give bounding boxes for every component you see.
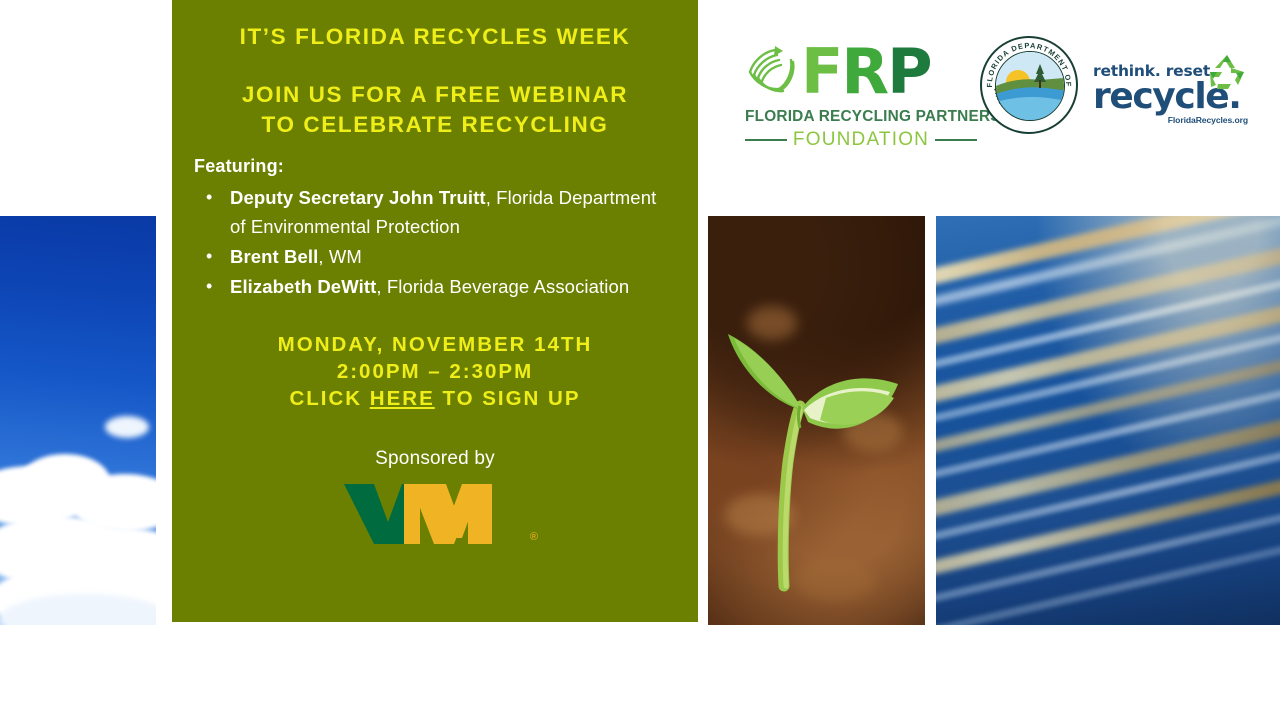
rethink-reset-recycle-logo: rethink. reset. recycle. FloridaRecycles… bbox=[1093, 62, 1248, 134]
water-highlight bbox=[936, 216, 1280, 625]
seedling-photo bbox=[708, 216, 925, 625]
seal-scene bbox=[995, 51, 1065, 121]
signup-call-to-action[interactable]: CLICK HERE TO SIGN UP bbox=[172, 385, 698, 412]
speaker-affiliation: , WM bbox=[318, 246, 362, 267]
list-item: • Elizabeth DeWitt, Florida Beverage Ass… bbox=[198, 272, 672, 301]
headline-secondary-line2: TO CELEBRATE RECYCLING bbox=[172, 110, 698, 140]
sky-photo bbox=[0, 216, 156, 625]
event-date: MONDAY, NOVEMBER 14TH bbox=[172, 331, 698, 358]
featuring-label: Featuring: bbox=[194, 156, 698, 177]
event-details: MONDAY, NOVEMBER 14TH 2:00PM – 2:30PM CL… bbox=[172, 331, 698, 412]
signup-link[interactable]: HERE bbox=[370, 387, 435, 410]
event-time: 2:00PM – 2:30PM bbox=[172, 358, 698, 385]
frp-letters: FRP bbox=[801, 41, 931, 103]
headline-primary: IT’S FLORIDA RECYCLES WEEK bbox=[172, 0, 698, 50]
water-photo bbox=[936, 216, 1280, 625]
divider-line bbox=[745, 139, 787, 141]
recycling-arrows-icon bbox=[1204, 52, 1250, 92]
frp-foundation-row: FOUNDATION bbox=[745, 129, 977, 151]
speaker-list: • Deputy Secretary John Truitt, Florida … bbox=[172, 183, 698, 301]
frp-foundation-label: FOUNDATION bbox=[793, 129, 929, 151]
signup-suffix: TO SIGN UP bbox=[435, 387, 581, 410]
bullet-icon: • bbox=[206, 272, 212, 301]
seal-landscape-icon bbox=[996, 52, 1064, 120]
frp-letter-r: R bbox=[841, 35, 887, 108]
seedling-icon bbox=[708, 216, 925, 625]
signup-prefix: CLICK bbox=[289, 387, 369, 410]
speaker-affiliation: , Florida Beverage Association bbox=[376, 276, 629, 297]
sponsored-by-label: Sponsored by bbox=[172, 448, 698, 470]
flyer-canvas: IT’S FLORIDA RECYCLES WEEK JOIN US FOR A… bbox=[0, 0, 1280, 720]
speaker-name: Deputy Secretary John Truitt bbox=[230, 187, 486, 208]
cloud-shape bbox=[105, 416, 149, 438]
frp-letter-p: P bbox=[887, 35, 930, 108]
list-item: • Deputy Secretary John Truitt, Florida … bbox=[198, 183, 672, 241]
wm-logo-icon bbox=[342, 482, 528, 546]
headline-secondary-line1: JOIN US FOR A FREE WEBINAR bbox=[172, 80, 698, 110]
headline-secondary: JOIN US FOR A FREE WEBINAR TO CELEBRATE … bbox=[172, 50, 698, 140]
recycling-swoosh-icon bbox=[745, 42, 801, 102]
wm-logo: ® bbox=[342, 482, 528, 546]
frp-wordmark-row: FRP bbox=[745, 36, 977, 108]
speaker-name: Elizabeth DeWitt bbox=[230, 276, 376, 297]
bullet-icon: • bbox=[206, 242, 212, 271]
frp-subtitle: FLORIDA RECYCLING PARTNERSHIP bbox=[745, 108, 977, 126]
bullet-icon: • bbox=[206, 183, 212, 212]
florida-dep-seal: FLORIDA DEPARTMENT OF ENVIRONMENTAL PROT… bbox=[980, 36, 1078, 134]
registered-trademark: ® bbox=[530, 531, 538, 543]
list-item: • Brent Bell, WM bbox=[198, 242, 672, 271]
divider-line bbox=[935, 139, 977, 141]
speaker-name: Brent Bell bbox=[230, 246, 318, 267]
frp-logo: FRP FLORIDA RECYCLING PARTNERSHIP FOUNDA… bbox=[745, 36, 977, 146]
green-content-panel: IT’S FLORIDA RECYCLES WEEK JOIN US FOR A… bbox=[172, 0, 698, 622]
frp-letter-f: F bbox=[801, 35, 841, 108]
